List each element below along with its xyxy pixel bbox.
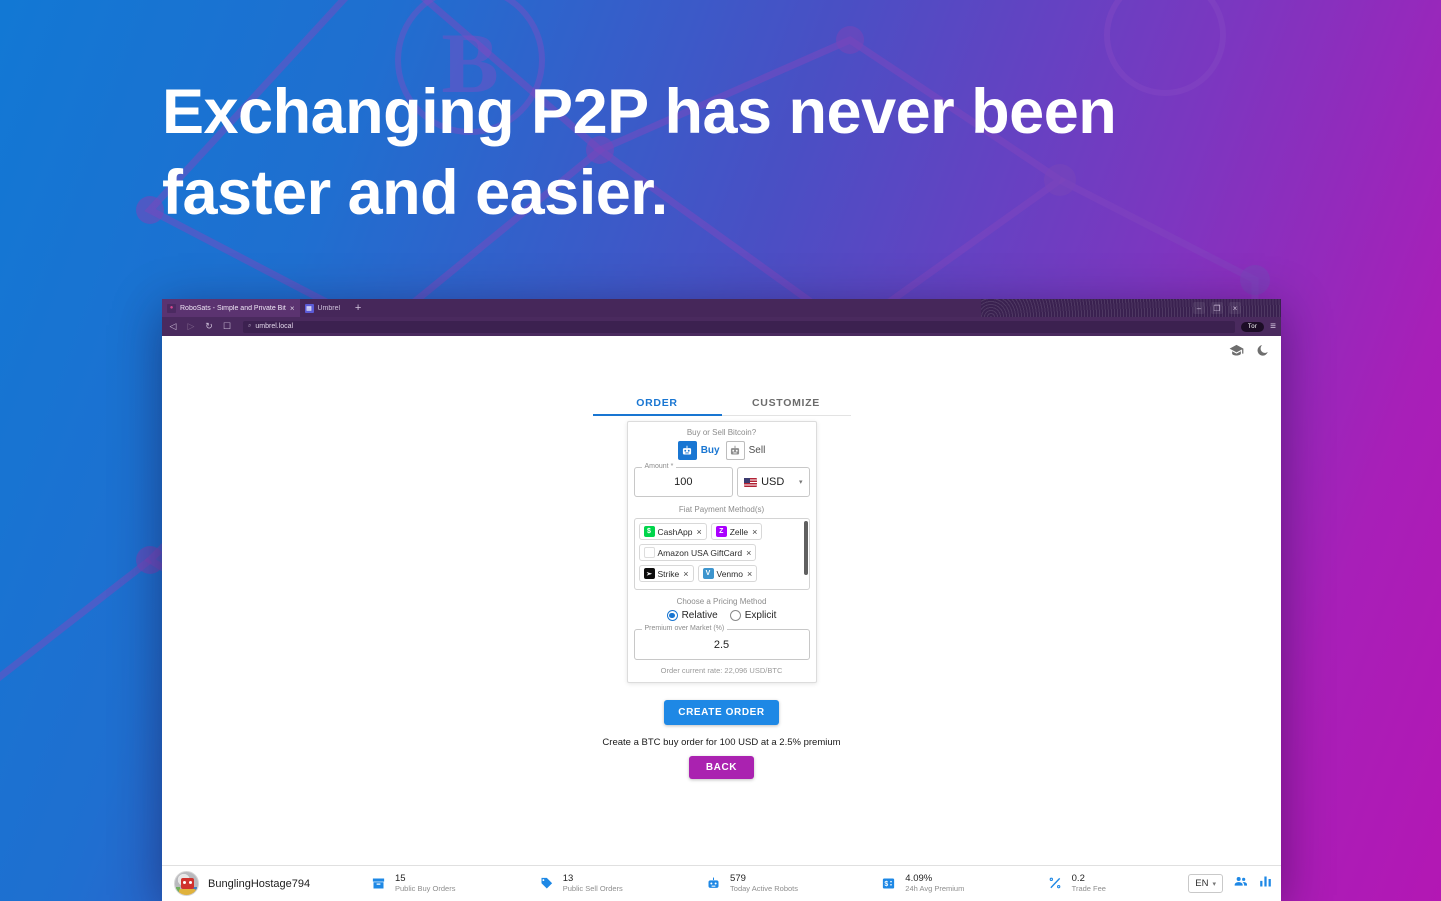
premium-label: Premium over Market (%) (642, 625, 728, 632)
page-viewport: ORDER CUSTOMIZE Buy or Sell Bitcoin? Buy (162, 336, 1281, 901)
stat-today-active-robots: 579 Today Active Robots (705, 874, 798, 893)
forward-icon[interactable]: ▷ (185, 321, 197, 333)
pricing-method-label: Choose a Pricing Method (677, 597, 767, 606)
inbox-icon (370, 875, 387, 892)
chip-label: Zelle (730, 527, 748, 537)
buy-sell-toggle: Buy Sell (678, 441, 766, 460)
browser-tab-robosats[interactable]: ● RoboSats - Simple and Private Bit × (162, 299, 300, 317)
payment-chip-cashapp[interactable]: $ CashApp × (639, 523, 707, 540)
stat-caption: Trade Fee (1072, 885, 1106, 893)
premium-value: 2.5 (714, 639, 729, 651)
strike-icon: ➣ (644, 568, 655, 579)
radio-explicit-icon (730, 610, 741, 621)
amount-value: 100 (674, 476, 692, 488)
buy-label: Buy (701, 445, 720, 456)
search-icon: ⌕ (248, 323, 251, 330)
umbrel-favicon: ▦ (305, 304, 314, 313)
headline-line-2: faster and easier. (162, 153, 1162, 234)
premium-input[interactable]: Premium over Market (%) 2.5 (634, 629, 810, 660)
sell-label: Sell (749, 445, 766, 456)
payment-methods-scrollbar[interactable] (804, 521, 808, 575)
status-bar-right-icons (1233, 873, 1273, 894)
language-select[interactable]: EN ▾ (1188, 874, 1223, 893)
remove-icon[interactable]: × (746, 548, 751, 558)
browser-window: ● RoboSats - Simple and Private Bit × ▦ … (162, 299, 1281, 901)
window-maximize-button[interactable]: ❐ (1211, 302, 1223, 314)
browser-tab-title: RoboSats - Simple and Private Bit (180, 305, 286, 312)
create-order-button[interactable]: CREATE ORDER (664, 700, 778, 725)
tab-order[interactable]: ORDER (593, 393, 722, 415)
chevron-down-icon: ▾ (1212, 880, 1216, 888)
payment-chip-venmo[interactable]: V Venmo × (698, 565, 758, 582)
payment-methods-section: Fiat Payment Method(s) $ CashApp × Z Zel… (634, 505, 810, 590)
remove-icon[interactable]: × (696, 527, 701, 537)
order-summary-text: Create a BTC buy order for 100 USD at a … (602, 737, 840, 748)
bookmark-icon[interactable]: ☐ (221, 321, 233, 333)
stat-24h-avg-premium: $ 4.09% 24h Avg Premium (880, 874, 964, 893)
browser-tab-title: Umbrel (318, 305, 341, 312)
browser-tab-umbrel[interactable]: ▦ Umbrel (300, 299, 346, 317)
status-bar: BunglingHostage794 15 Public Buy Orders (162, 865, 1281, 901)
tab-customize[interactable]: CUSTOMIZE (722, 393, 851, 415)
cashapp-icon: $ (644, 526, 655, 537)
tor-badge[interactable]: Tor (1241, 322, 1264, 332)
order-form-card: Buy or Sell Bitcoin? Buy Se (627, 421, 817, 683)
radio-explicit-label: Explicit (745, 610, 777, 621)
chip-label: Venmo (717, 569, 743, 579)
venmo-icon: V (703, 568, 714, 579)
tag-icon (538, 875, 555, 892)
username: BunglingHostage794 (208, 878, 310, 890)
robot-icon (705, 875, 722, 892)
reload-icon[interactable]: ↻ (203, 321, 215, 333)
amount-input[interactable]: Amount * 100 (634, 467, 734, 497)
stat-caption: Public Buy Orders (395, 885, 455, 893)
payment-chip-amazon[interactable]: a Amazon USA GiftCard × (639, 544, 757, 561)
poster-background: B B B Exchanging P2P has never been fast… (0, 0, 1441, 901)
zelle-icon: Z (716, 526, 727, 537)
chip-label: CashApp (658, 527, 693, 537)
stat-caption: Public Sell Orders (563, 885, 623, 893)
radio-relative-icon (667, 610, 678, 621)
stat-caption: Today Active Robots (730, 885, 798, 893)
window-minimize-button[interactable]: – (1193, 302, 1205, 314)
back-button[interactable]: BACK (689, 756, 754, 779)
percent-icon (1047, 875, 1064, 892)
amount-label: Amount * (642, 463, 677, 470)
browser-menu-icon[interactable]: ≡ (1270, 322, 1276, 332)
remove-icon[interactable]: × (747, 569, 752, 579)
maker-tabs: ORDER CUSTOMIZE (593, 393, 851, 416)
app-main: ORDER CUSTOMIZE Buy or Sell Bitcoin? Buy (162, 336, 1281, 865)
payment-chip-zelle[interactable]: Z Zelle × (711, 523, 763, 540)
headline-line-1: Exchanging P2P has never been (162, 72, 1162, 153)
dark-mode-icon[interactable] (1255, 344, 1269, 358)
address-bar[interactable]: ⌕ umbrel.local (243, 321, 1235, 333)
back-icon[interactable]: ◁ (167, 321, 179, 333)
browser-tab-strip: ● RoboSats - Simple and Private Bit × ▦ … (162, 299, 1281, 317)
buy-sell-label: Buy or Sell Bitcoin? (687, 428, 756, 437)
avatar (174, 871, 199, 896)
robot-buy-icon (678, 441, 697, 460)
language-value: EN (1195, 878, 1208, 889)
payment-methods-box[interactable]: $ CashApp × Z Zelle × a Am (634, 518, 810, 590)
robot-sell-icon (726, 441, 745, 460)
price-change-icon: $ (880, 875, 897, 892)
app-top-icons (1229, 343, 1269, 358)
pricing-method-radios: Relative Explicit (667, 610, 777, 621)
window-close-button[interactable]: × (1229, 302, 1241, 314)
radio-explicit[interactable]: Explicit (730, 610, 777, 621)
browser-toolbar-right: Tor ≡ (1241, 322, 1276, 332)
tabstrip-spacer (371, 299, 1281, 317)
sell-option[interactable]: Sell (726, 441, 766, 460)
svg-text:$: $ (885, 881, 889, 888)
robosats-favicon: ● (167, 304, 176, 313)
browser-toolbar: ◁ ▷ ↻ ☐ ⌕ umbrel.local Tor ≡ (162, 317, 1281, 336)
page-title: Exchanging P2P has never been faster and… (162, 72, 1162, 233)
currency-select[interactable]: USD ▾ (737, 467, 809, 497)
buy-option[interactable]: Buy (678, 441, 720, 460)
radio-relative[interactable]: Relative (667, 610, 718, 621)
stat-public-sell-orders: 13 Public Sell Orders (538, 874, 623, 893)
chevron-down-icon: ▾ (799, 478, 803, 486)
chip-label: Strike (658, 569, 680, 579)
community-icon[interactable] (1233, 873, 1249, 894)
close-icon[interactable]: × (290, 304, 295, 313)
address-bar-url: umbrel.local (255, 323, 293, 330)
remove-icon[interactable]: × (683, 569, 688, 579)
remove-icon[interactable]: × (752, 527, 757, 537)
stat-caption: 24h Avg Premium (905, 885, 964, 893)
learn-icon[interactable] (1229, 343, 1244, 358)
us-flag-icon (744, 478, 757, 487)
amazon-icon: a (644, 547, 655, 558)
radio-relative-label: Relative (682, 610, 718, 621)
amount-row: Amount * 100 USD ▾ (634, 467, 810, 497)
current-rate-note: Order current rate: 22,096 USD/BTC (661, 666, 783, 675)
stat-public-buy-orders: 15 Public Buy Orders (370, 874, 455, 893)
payment-chip-strike[interactable]: ➣ Strike × (639, 565, 694, 582)
user-info[interactable]: BunglingHostage794 (174, 871, 370, 896)
chip-label: Amazon USA GiftCard (658, 548, 743, 558)
stat-trade-fee: 0.2 Trade Fee (1047, 874, 1106, 893)
payment-methods-label: Fiat Payment Method(s) (634, 505, 810, 514)
new-tab-button[interactable]: + (345, 299, 371, 317)
stats-icon[interactable] (1258, 874, 1273, 894)
currency-value: USD (761, 476, 784, 488)
